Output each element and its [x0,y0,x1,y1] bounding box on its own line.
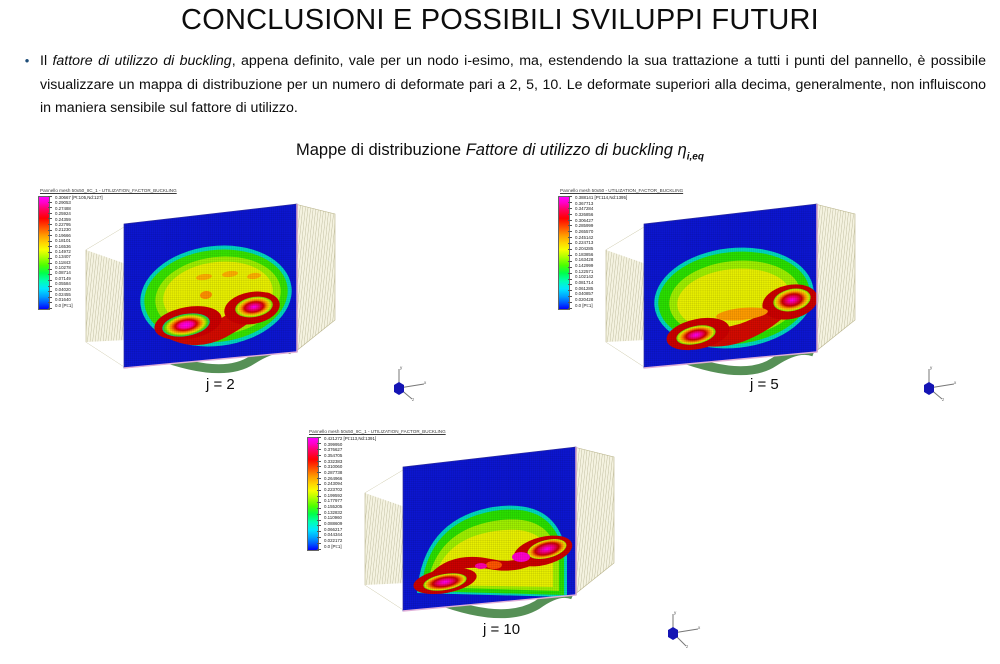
figure-j5-colorbar-tick [568,290,572,291]
figure-j10-axis-triad: y x z [653,609,703,649]
svg-text:x: x [424,380,427,385]
figure-j2-colorbar-tick [48,230,52,231]
figure-j5-colorbar-tick [568,267,572,268]
figure-j5-colorbar-tick [568,202,572,203]
figure-j10-colorbar-tick [317,502,321,503]
figure-j10-contour-plot [361,435,701,635]
figure-j5-triad-svg: y x z [909,364,959,402]
figure-j2-colorbar-tick [48,274,52,275]
figure-j10-colorbar-tick [317,490,321,491]
maps-caption-prefix: Mappe di distribuzione [296,141,466,159]
figure-j2-axis-triad: y x z [379,364,429,402]
figure-j2-colorbar-tick [48,263,52,264]
figure-j10-colorbar-tick [317,484,321,485]
figure-j2-colorbar-tick [48,235,52,236]
figure-j10-colorbar-tick [317,520,321,521]
figure-j10-colorbar [307,437,319,551]
figure-j10-colorbar-tick [317,496,321,497]
figure-j2-colorbar-tick [48,196,52,197]
figure-j5-colorbar-tick [568,302,572,303]
figure-j10-colorbar-ticks [317,437,327,549]
maps-caption-emphasis: Fattore di utilizzo di buckling [466,141,673,159]
figure-j10-colorbar-tick [317,466,321,467]
figure-j10-colorbar-tick [317,531,321,532]
figure-j10-colorbar-tick [317,514,321,515]
figure-j2-colorbar-tick [48,218,52,219]
figure-j5-colorbar-tick [568,255,572,256]
svg-text:y: y [400,365,403,370]
maps-caption: Mappe di distribuzione Fattore di utiliz… [0,141,1000,162]
figure-j5-colorbar-tick [568,243,572,244]
bullet-text-part-1: Il [40,53,52,69]
figure-j10-label: j = 10 [483,621,520,638]
figure-j5-colorbar-tick [568,237,572,238]
figure-j2-colorbar-tick [48,269,52,270]
figure-j10-colorbar-tick [317,537,321,538]
figure-j10-colorbar-tick [317,549,321,550]
figure-j5-contour-plot [602,192,932,382]
figure-j5-colorbar-tick [568,279,572,280]
figure-j2-colorbar-tick [48,241,52,242]
figure-j2-colorbar-tick [48,207,52,208]
figure-j5-colorbar-tick [568,231,572,232]
figure-j10-colorbar-tick [317,478,321,479]
figure-j5-colorbar [558,196,570,310]
figure-j2-colorbar-tick [48,246,52,247]
svg-text:z: z [942,397,945,402]
bullet-paragraph: • Il fattore di utilizzo di buckling, ap… [14,50,986,121]
figure-j2-colorbar-tick [48,297,52,298]
bullet-text-emphasis: fattore di utilizzo di buckling [52,53,231,69]
figure-j10-colorbar-tick [317,449,321,450]
figure-j2-colorbar [38,196,50,310]
figure-j5-colorbar-tick [568,220,572,221]
svg-text:z: z [412,397,415,402]
figure-j5-colorbar-tick [568,308,572,309]
figure-j10-colorbar-tick [317,543,321,544]
figure-j2-colorbar-tick [48,252,52,253]
figure-j5-colorbar-tick [568,214,572,215]
figure-j10-colorbar-tick [317,508,321,509]
figure-j10-plot-svg [361,435,701,635]
figure-j5-colorbar-tick [568,249,572,250]
figure-j5-colorbar-tick [568,296,572,297]
svg-text:z: z [686,644,689,649]
figure-j10-colorbar-tick [317,461,321,462]
page-title: CONCLUSIONI E POSSIBILI SVILUPPI FUTURI [0,4,1000,37]
figure-j5-label: j = 5 [750,376,779,393]
maps-caption-symbol: η [678,141,687,159]
figure-j2-triad-svg: y x z [379,364,429,402]
figure-j10-colorbar-tick [317,437,321,438]
svg-text:y: y [930,365,933,370]
figure-j2-label: j = 2 [206,376,235,393]
svg-text:y: y [674,610,677,615]
figure-j2-colorbar-ticks [48,196,58,308]
figure-j5-colorbar-tick [568,284,572,285]
figure-j5-colorbar-tick [568,196,572,197]
figure-j10-colorbar-tick [317,525,321,526]
figure-j10-colorbar-tick [317,472,321,473]
figure-j2-colorbar-tick [48,280,52,281]
figure-j2-colorbar-tick [48,302,52,303]
figure-j2-colorbar-tick [48,308,52,309]
figure-j5: Pannello mesh 50x50 - UTILIZATION_FACTOR… [554,188,984,403]
figure-j2-colorbar-tick [48,286,52,287]
figure-j10: Pannello mesh 50x50_IIC_1 - UTILIZATION_… [303,429,733,654]
figure-j2-colorbar-tick [48,202,52,203]
figure-j2-colorbar-tick [48,258,52,259]
figure-j2: Pannello mesh 50x50_IIC_1 - UTILIZATION_… [34,188,454,403]
figure-j5-colorbar-ticks [568,196,578,308]
figure-j2-plot-svg [82,192,402,382]
figure-j10-colorbar-tick [317,443,321,444]
figure-j5-colorbar-tick [568,225,572,226]
svg-text:x: x [954,380,957,385]
figure-j5-colorbar-tick [568,261,572,262]
figure-j5-colorbar-tick [568,273,572,274]
figure-j2-colorbar-tick [48,224,52,225]
presentation-slide: CONCLUSIONI E POSSIBILI SVILUPPI FUTURI … [0,0,1000,664]
figure-j2-colorbar-tick [48,291,52,292]
svg-text:x: x [698,625,701,630]
figure-j5-plot-svg [602,192,932,382]
figure-j5-axis-triad: y x z [909,364,959,402]
figure-j2-colorbar-tick [48,213,52,214]
figure-j2-contour-plot [82,192,402,382]
bullet-marker: • [14,50,40,71]
bullet-body-text: Il fattore di utilizzo di buckling, appe… [40,50,986,121]
figure-j10-triad-svg: y x z [653,609,703,649]
maps-caption-subscript: i,eq [687,151,704,162]
figure-j5-colorbar-tick [568,208,572,209]
figure-j10-colorbar-tick [317,455,321,456]
